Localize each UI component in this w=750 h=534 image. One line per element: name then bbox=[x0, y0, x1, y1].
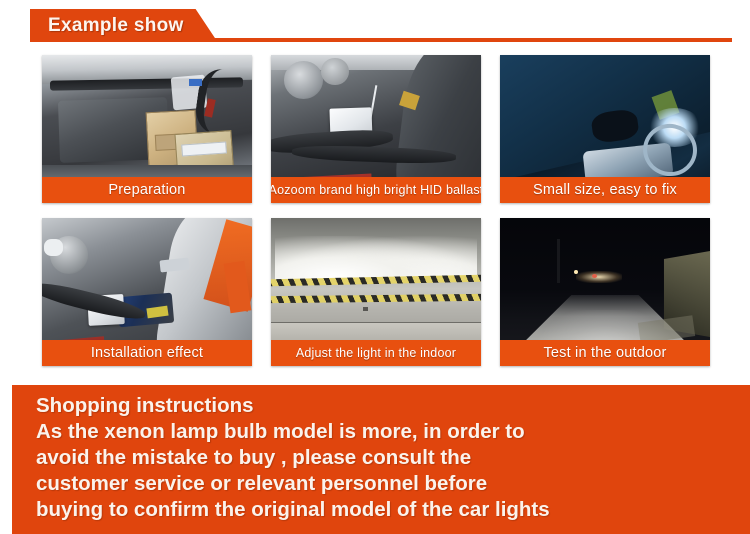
gallery-item-small-size[interactable]: Small size, easy to fix bbox=[500, 55, 710, 203]
gallery-caption-label: Small size, easy to fix bbox=[533, 182, 677, 198]
gallery-item-ballast[interactable]: Aozoom brand high bright HID ballast bbox=[271, 55, 481, 203]
shopping-instructions-block: Shopping instructions As the xenon lamp … bbox=[12, 385, 750, 534]
header-banner: Example show bbox=[0, 0, 750, 52]
gallery-caption: Test in the outdoor bbox=[500, 340, 710, 366]
gallery-caption: Adjust the light in the indoor bbox=[271, 340, 481, 366]
gallery-item-outdoor-test[interactable]: Test in the outdoor bbox=[500, 218, 710, 366]
gallery-item-indoor-adjust[interactable]: Adjust the light in the indoor bbox=[271, 218, 481, 366]
gallery-item-preparation[interactable]: Preparation bbox=[42, 55, 252, 203]
gallery-caption-label: Test in the outdoor bbox=[543, 345, 666, 361]
notice-line-3: customer service or relevant personnel b… bbox=[36, 471, 750, 497]
gallery-caption-label: Preparation bbox=[108, 182, 185, 198]
gallery-item-installation-effect[interactable]: Installation effect bbox=[42, 218, 252, 366]
example-photo-grid: Preparation Aozoom brand high bright HID… bbox=[42, 55, 710, 366]
gallery-caption: Aozoom brand high bright HID ballast bbox=[271, 177, 481, 203]
notice-line-2: avoid the mistake to buy , please consul… bbox=[36, 445, 750, 471]
gallery-caption-label: Installation effect bbox=[91, 345, 203, 361]
notice-line-title: Shopping instructions bbox=[36, 393, 750, 419]
gallery-caption: Small size, easy to fix bbox=[500, 177, 710, 203]
gallery-caption-label: Aozoom brand high bright HID ballast bbox=[271, 183, 481, 197]
notice-line-4: buying to confirm the original model of … bbox=[36, 497, 750, 523]
notice-line-1: As the xenon lamp bulb model is more, in… bbox=[36, 419, 750, 445]
gallery-caption: Installation effect bbox=[42, 340, 252, 366]
gallery-caption-label: Adjust the light in the indoor bbox=[296, 346, 456, 360]
header-divider-rule bbox=[150, 38, 732, 42]
gallery-caption: Preparation bbox=[42, 177, 252, 203]
section-title-label: Example show bbox=[48, 15, 184, 37]
